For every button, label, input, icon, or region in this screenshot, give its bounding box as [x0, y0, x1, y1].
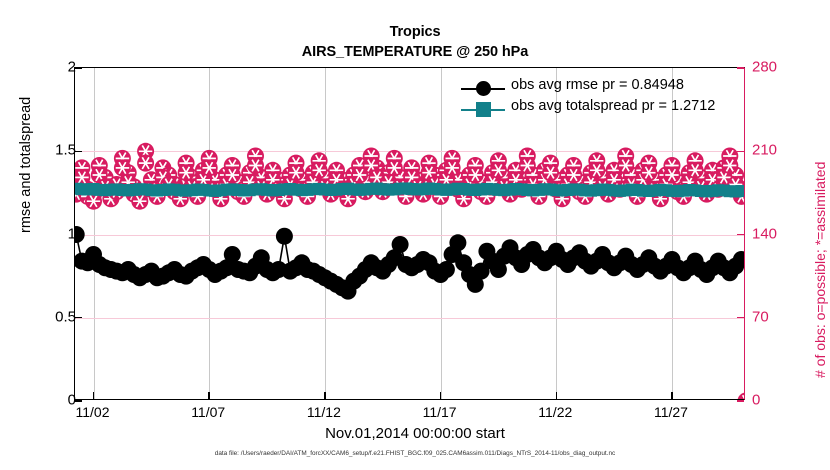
- y-axis-right-tick-label: 140: [752, 225, 812, 242]
- x-axis-tick-label: 11/07: [191, 404, 225, 420]
- legend-item: obs avg totalspread pr = 1.2712: [461, 99, 739, 120]
- x-axis-tick-label: 11/27: [654, 404, 688, 420]
- x-axis-tick-label: 11/17: [423, 404, 457, 420]
- y-axis-left-tick-label: 2: [16, 59, 76, 76]
- chart-legend: obs avg rmse pr = 0.84948obs avg totalsp…: [461, 78, 739, 120]
- y-axis-left-title: rmse and totalspread: [18, 97, 34, 233]
- x-axis-tick: [93, 392, 95, 399]
- x-axis-tick-label: 11/12: [307, 404, 341, 420]
- x-axis-tick: [324, 392, 326, 399]
- chart-title-block: Tropics AIRS_TEMPERATURE @ 250 hPa: [0, 22, 830, 62]
- x-axis-tick: [671, 392, 673, 399]
- chart-title-region: Tropics: [0, 22, 830, 42]
- y-axis-right-tick: [737, 151, 744, 153]
- data-file-footer: data file: /Users/raeder/DAI/ATM_forcXX/…: [0, 450, 830, 457]
- x-axis-tick-label: 11/22: [538, 404, 572, 420]
- y-axis-right-tick: [737, 67, 744, 69]
- y-axis-left-tick: [75, 317, 82, 319]
- x-axis-title: Nov.01,2014 00:00:00 start: [0, 425, 830, 442]
- y-axis-right-tick: [737, 400, 744, 402]
- legend-label: obs avg rmse pr = 0.84948: [511, 77, 684, 93]
- y-axis-right-tick: [737, 234, 744, 236]
- y-axis-right-tick-label: 280: [752, 59, 812, 76]
- y-axis-left-tick-label: 0: [16, 392, 76, 409]
- y-axis-left-tick: [75, 151, 82, 153]
- legend-label: obs avg totalspread pr = 1.2712: [511, 98, 715, 114]
- legend-circle-marker-icon: [476, 81, 491, 96]
- y-axis-right-title: # of obs: o=possible; *=assimilated: [812, 162, 828, 378]
- legend-square-marker-icon: [476, 102, 491, 117]
- x-axis-tick: [556, 392, 558, 399]
- y-axis-left-tick: [75, 234, 82, 236]
- x-axis-tick: [208, 392, 210, 399]
- x-axis-tick: [440, 392, 442, 399]
- y-axis-right-tick-label: 210: [752, 142, 812, 159]
- y-axis-left-tick-label: 1: [16, 225, 76, 242]
- y-axis-right-tick-label: 70: [752, 308, 812, 325]
- legend-item: obs avg rmse pr = 0.84948: [461, 78, 739, 99]
- y-axis-left-tick: [75, 67, 82, 69]
- chart-title-variable: AIRS_TEMPERATURE @ 250 hPa: [0, 42, 830, 62]
- y-axis-right-tick-label: 0: [752, 392, 812, 409]
- y-axis-left-tick: [75, 400, 82, 402]
- y-axis-right-tick: [737, 317, 744, 319]
- chart-page: Tropics AIRS_TEMPERATURE @ 250 hPa rmse …: [0, 0, 830, 470]
- y-axis-left-tick-label: 0.5: [16, 308, 76, 325]
- x-axis-tick-label: 11/02: [76, 404, 110, 420]
- y-axis-left-tick-label: 1.5: [16, 142, 76, 159]
